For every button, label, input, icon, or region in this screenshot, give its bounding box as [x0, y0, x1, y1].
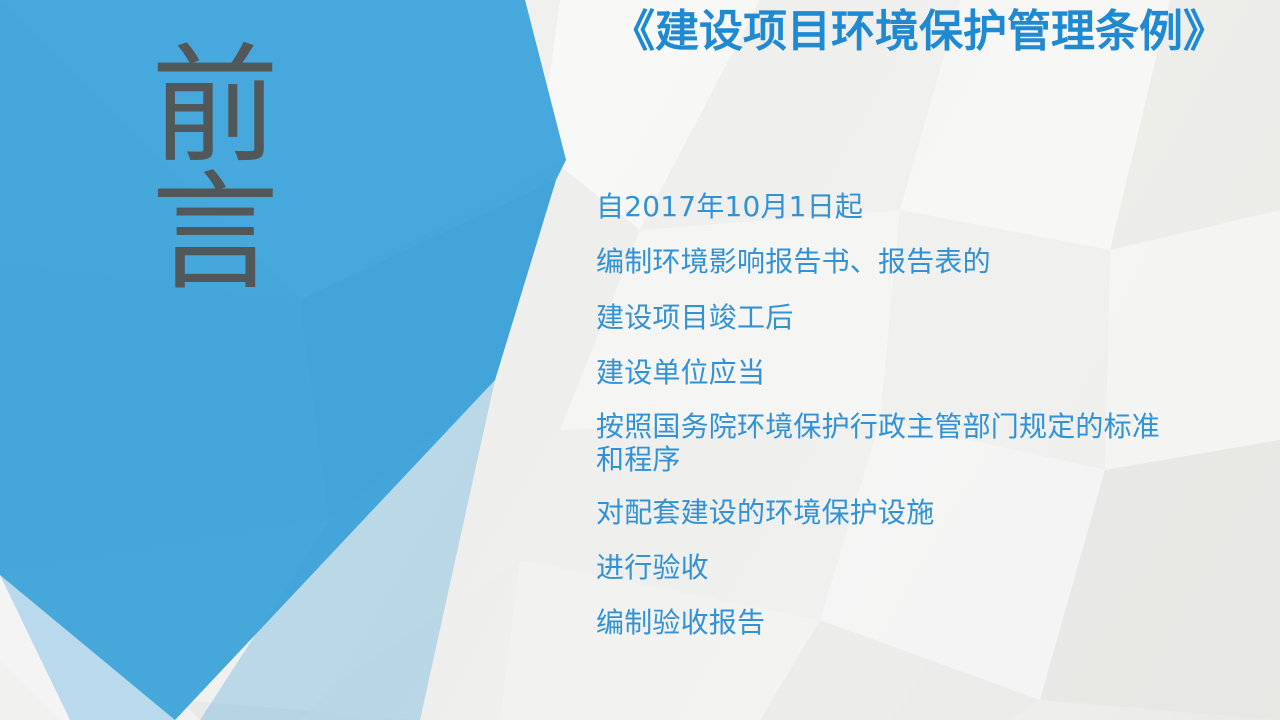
body-line: 进行验收 — [596, 550, 1196, 585]
body-line: 编制环境影响报告书、报告表的 — [596, 244, 1196, 279]
body-line: 对配套建设的环境保护设施 — [596, 495, 1196, 530]
body-line: 按照国务院环境保护行政主管部门规定的标准和程序 — [596, 410, 1186, 477]
page-title: 《建设项目环境保护管理条例》 — [596, 6, 1242, 58]
body-line: 自2017年10月1日起 — [596, 189, 1196, 224]
section-label: 前言 — [140, 44, 290, 297]
slide-canvas: 前言 《建设项目环境保护管理条例》 自2017年10月1日起 编制环境影响报告书… — [0, 0, 1280, 720]
body-line: 建设单位应当 — [596, 355, 1196, 390]
body-text-block: 自2017年10月1日起 编制环境影响报告书、报告表的 建设项目竣工后 建设单位… — [596, 189, 1196, 640]
body-line: 建设项目竣工后 — [596, 300, 1196, 335]
body-line: 编制验收报告 — [596, 605, 1196, 640]
